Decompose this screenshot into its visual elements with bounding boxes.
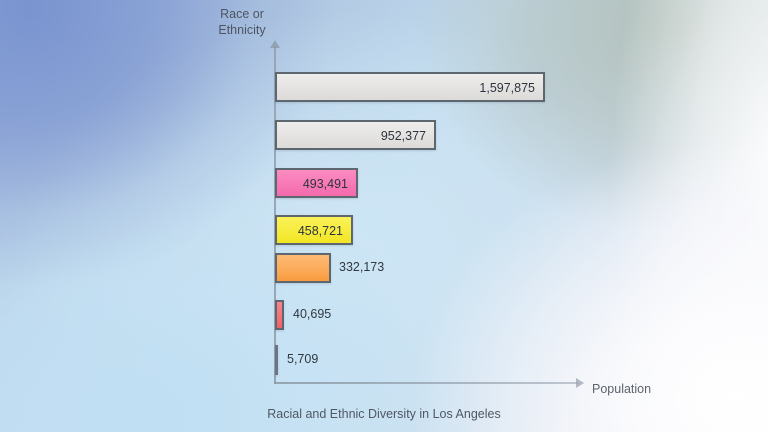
bar[interactable]: 1,597,875: [275, 72, 545, 102]
x-axis-line: [274, 382, 578, 384]
chart-title: Racial and Ethnic Diversity in Los Angel…: [0, 407, 768, 421]
bar-value-label: 952,377: [381, 122, 426, 152]
bar-value-label: 5,709: [287, 345, 318, 375]
x-axis-arrow-icon: [576, 378, 584, 388]
bar[interactable]: [275, 253, 331, 283]
bar-value-label: 458,721: [298, 217, 343, 247]
bar-value-label: 332,173: [339, 253, 384, 283]
bar-chart: Race or Ethnicity Population White1,597,…: [0, 0, 768, 432]
bar-value-label: 493,491: [303, 170, 348, 200]
bar[interactable]: [275, 300, 284, 330]
chart-canvas: Race or Ethnicity Population White1,597,…: [0, 0, 768, 432]
bar[interactable]: [275, 345, 278, 375]
bar-value-label: 1,597,875: [479, 74, 535, 104]
bar-value-label: 40,695: [293, 300, 331, 330]
y-axis-title: Race or Ethnicity: [180, 6, 304, 38]
bar[interactable]: 458,721: [275, 215, 353, 245]
bar[interactable]: 493,491: [275, 168, 358, 198]
y-axis-arrow-icon: [270, 40, 280, 48]
bar[interactable]: 952,377: [275, 120, 436, 150]
x-axis-title: Population: [592, 382, 651, 396]
